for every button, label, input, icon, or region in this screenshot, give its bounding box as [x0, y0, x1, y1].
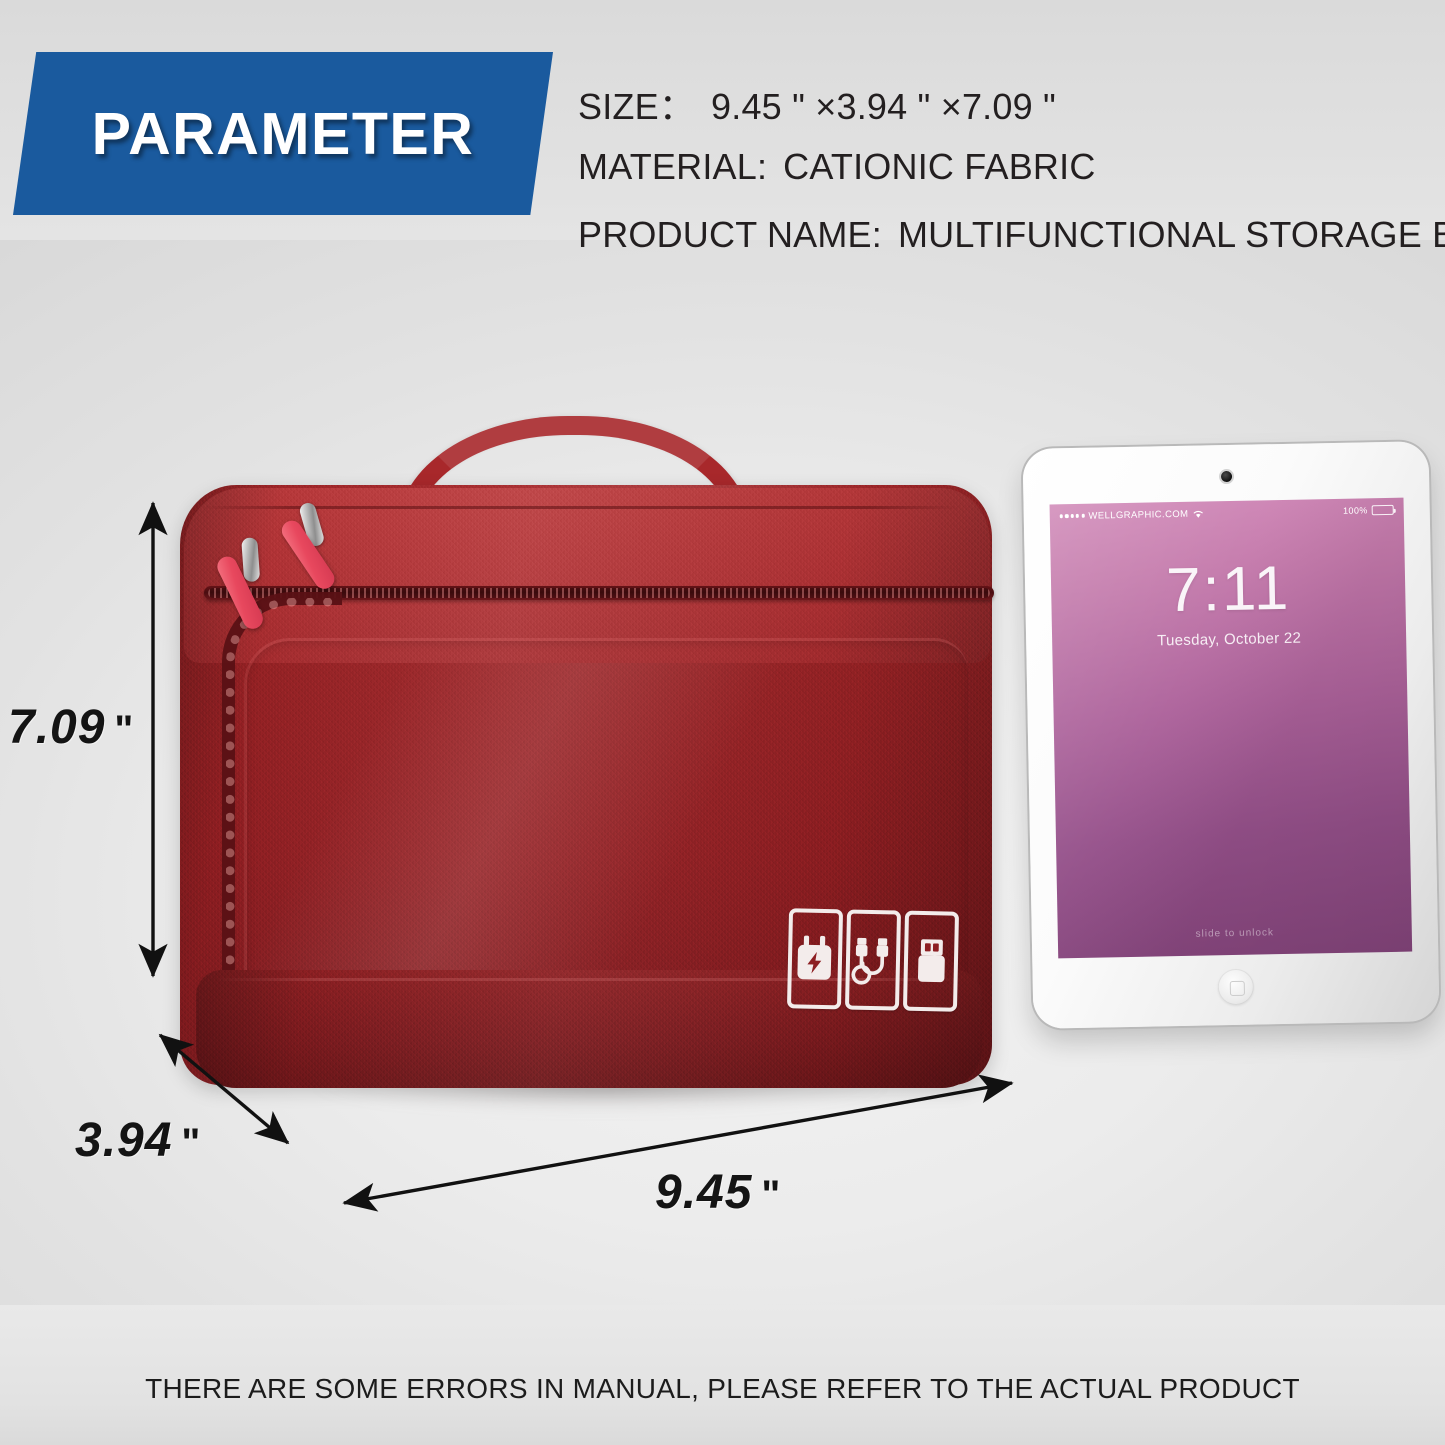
dimension-label-height: 7.09" — [8, 700, 134, 755]
dimension-unit-width: " — [761, 1173, 781, 1217]
usb-cable-icon — [849, 914, 897, 1007]
lockscreen-date: Tuesday, October 22 — [1052, 628, 1406, 652]
wifi-icon — [1192, 509, 1203, 518]
spec-row-material: MATERIAL:CATIONIC FABRIC — [578, 146, 1096, 188]
front-camera-icon — [1220, 471, 1231, 482]
battery-icon — [1372, 505, 1394, 515]
footer-disclaimer: THERE ARE SOME ERRORS IN MANUAL, PLEASE … — [0, 1373, 1445, 1405]
parameter-banner: PARAMETER — [13, 52, 553, 215]
status-bar-left: WELLGRAPHIC.COM — [1060, 508, 1204, 522]
tablet-screen: WELLGRAPHIC.COM 100% 7:11 Tuesday, Octob… — [1050, 498, 1413, 959]
spec-label-size: SIZE： — [578, 86, 695, 127]
spec-list: SIZE：9.45 " ×3.94 " ×7.09 " MATERIAL:CAT… — [578, 38, 1438, 228]
storage-bag-product-photo — [170, 410, 1010, 1150]
parameter-banner-label: PARAMETER — [92, 100, 475, 168]
spec-value-size: 9.45 " ×3.94 " ×7.09 " — [711, 86, 1056, 127]
badge-cell-cable — [845, 909, 901, 1010]
dimension-label-width: 9.45" — [655, 1165, 781, 1220]
dimension-label-depth: 3.94" — [75, 1113, 201, 1168]
tablet-device: WELLGRAPHIC.COM 100% 7:11 Tuesday, Octob… — [1022, 441, 1439, 1029]
charger-adapter-icon — [791, 912, 839, 1005]
dimension-unit-depth: " — [181, 1121, 201, 1165]
spec-row-size: SIZE：9.45 " ×3.94 " ×7.09 " — [578, 78, 1056, 130]
zipper-slider-metal-lower — [241, 537, 260, 582]
spec-label-material: MATERIAL: — [578, 146, 767, 187]
dimension-value-width: 9.45 — [655, 1166, 752, 1219]
spec-value-product-name: MULTIFUNCTIONAL STORAGE BAG — [898, 214, 1445, 255]
badge-cell-usb-plug — [903, 911, 959, 1012]
lockscreen-time: 7:11 — [1051, 556, 1406, 625]
dimension-value-depth: 3.94 — [75, 1114, 172, 1167]
usb-plug-icon — [907, 915, 955, 1008]
spec-row-product-name: PRODUCT NAME:MULTIFUNCTIONAL STORAGE BAG — [578, 214, 1445, 256]
slide-to-unlock-hint: slide to unlock — [1058, 925, 1412, 943]
dimension-unit-height: " — [114, 708, 134, 752]
battery-percent-label: 100% — [1343, 505, 1368, 515]
carrier-label: WELLGRAPHIC.COM — [1088, 508, 1188, 521]
signal-strength-icon — [1060, 514, 1085, 518]
dimension-value-height: 7.09 — [8, 701, 105, 754]
zipper-left-curve-teeth — [226, 598, 336, 1018]
badge-cell-charger — [787, 908, 843, 1009]
infographic-stage: PARAMETER SIZE：9.45 " ×3.94 " ×7.09 " MA… — [0, 0, 1445, 1445]
spec-value-material: CATIONIC FABRIC — [783, 146, 1095, 187]
spec-label-product-name: PRODUCT NAME: — [578, 214, 882, 255]
status-bar-right: 100% — [1343, 505, 1394, 516]
product-icon-badge — [787, 908, 959, 1012]
